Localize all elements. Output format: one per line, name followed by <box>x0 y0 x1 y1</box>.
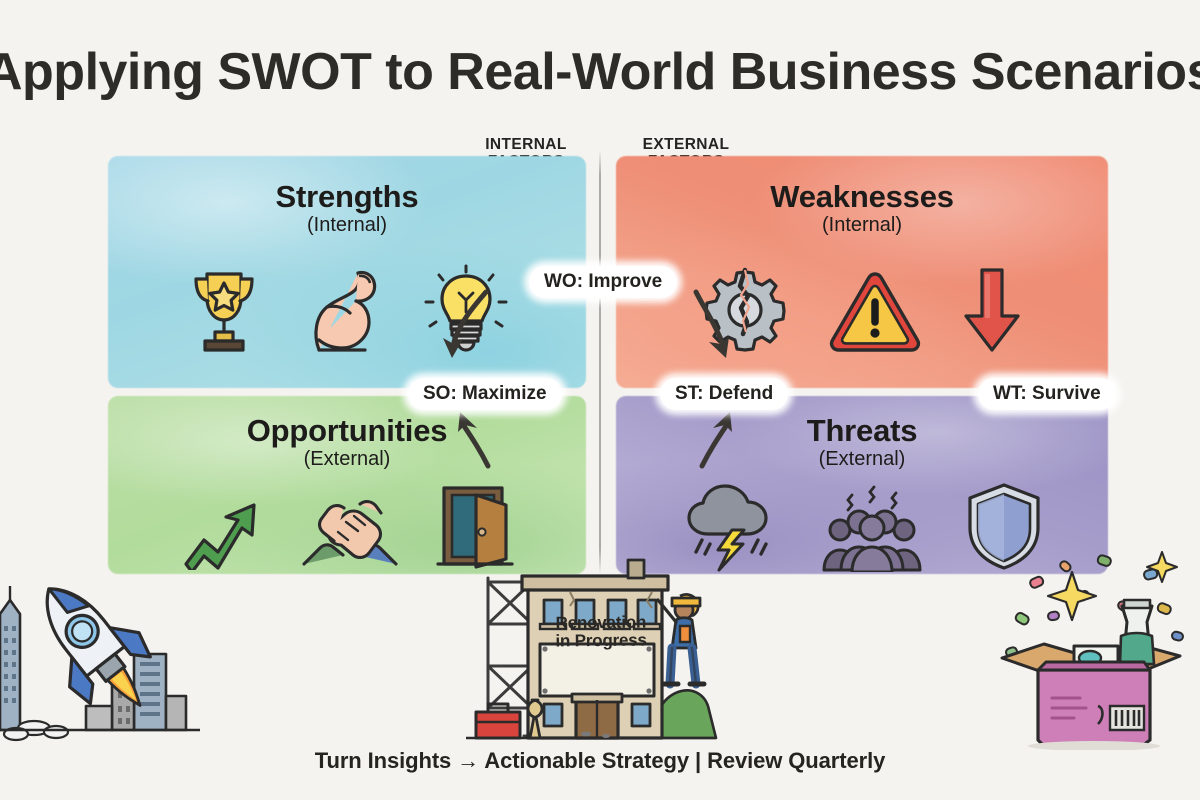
strategy-pill-wt[interactable]: WT: Survive <box>978 378 1116 410</box>
opportunities-background-wash <box>108 396 586 574</box>
weaknesses-background-wash <box>616 156 1108 388</box>
internal-factors-line1: INTERNAL <box>462 136 590 153</box>
quadrant-threats: Threats (External) <box>616 396 1108 574</box>
strategy-pill-so[interactable]: SO: Maximize <box>408 378 562 410</box>
footer-caption: Turn Insights → Actionable Strategy | Re… <box>0 748 1200 774</box>
renovation-building-illustration <box>466 552 718 744</box>
threats-background-wash <box>616 396 1108 574</box>
renovation-banner-text: Renovation in Progress <box>540 613 662 651</box>
infographic-canvas: Applying SWOT to Real-World Business Sce… <box>0 0 1200 800</box>
internal-external-divider <box>599 150 601 574</box>
renovation-banner-line2: in Progress <box>540 632 662 652</box>
quadrant-weaknesses: Weaknesses (Internal) <box>616 156 1108 388</box>
external-factors-line1: EXTERNAL <box>612 136 760 153</box>
quadrant-strengths: Strengths (Internal) <box>108 156 586 388</box>
strategy-pill-wo[interactable]: WO: Improve <box>529 266 677 298</box>
rocket-launch-skyline-illustration <box>0 556 204 746</box>
strategy-pill-st[interactable]: ST: Defend <box>660 378 788 410</box>
quadrant-opportunities: Opportunities (External) <box>108 396 586 574</box>
page-title: Applying SWOT to Real-World Business Sce… <box>0 42 1200 102</box>
renovation-banner-line1: Renovation <box>540 613 662 633</box>
strengths-background-wash <box>108 156 586 388</box>
